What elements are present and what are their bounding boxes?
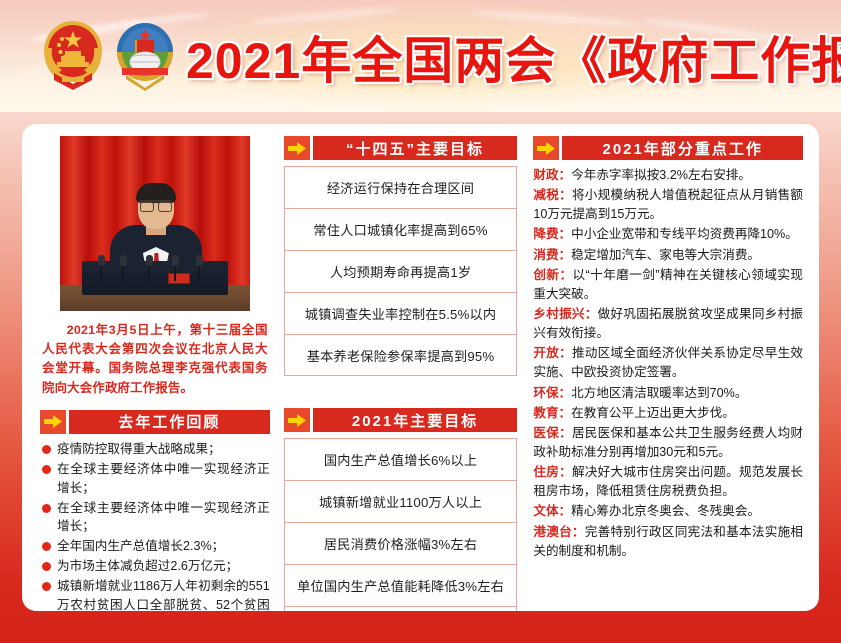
section-header-review: 去年工作回顾 [40, 410, 270, 434]
keywork-label: 开放 [533, 346, 559, 360]
list-item: 疫情防控取得重大战略成果； [40, 440, 270, 459]
figure-glasses [140, 200, 172, 208]
keywork-label: 乡村振兴 [533, 307, 584, 321]
goal-box: 城镇调查失业率控制在5.5%以内 [284, 292, 518, 334]
keywork-item: 港澳台：完善特别行政区同宪法和基本法实施相关的制度和机制。 [533, 523, 803, 561]
keywork-label: 环保 [533, 386, 558, 400]
keywork-item: 开放：推动区域全面经济伙伴关系协定尽早生效实施、中欧投资协定签署。 [533, 344, 803, 382]
keywork-item: 住房：解决好大城市住房突出问题。规范发展长租房市场，降低租赁住房税费负担。 [533, 463, 803, 501]
goal-box: 单位国内生产总值能耗降低3%左右 [284, 564, 518, 606]
right-column: 2021年部分重点工作 财政：今年赤字率拟按3.2%左右安排。减税：将小规模纳税… [523, 132, 809, 611]
keywork-text: 将小规模纳税人增值税起征点从月销售额10万元提高到15万元。 [533, 188, 803, 221]
goal-box: 基本养老保险参保率提高到95% [284, 334, 518, 376]
keywork-item: 乡村振兴：做好巩固拓展脱贫攻坚成果同乡村振兴有效衔接。 [533, 305, 803, 343]
keywork-text: 中小企业宽带和专线平均资费再降10%。 [571, 227, 798, 241]
poster-header: 2021年全国两会《政府工作报告》要点 [0, 0, 841, 112]
keywork-label: 住房 [533, 465, 559, 479]
list-item: 为市场主体减负超过2.6万亿元； [40, 557, 270, 576]
list-item-text: 在全球主要经济体中唯一实现经济正增长； [57, 501, 270, 534]
keywork-item: 创新：以“十年磨一剑”精神在关键核心领域实现重大突破。 [533, 266, 803, 304]
plan145-boxes: 经济运行保持在合理区间 常住人口城镇化率提高到65% 人均预期寿命再提高1岁 城… [284, 166, 518, 376]
microphone-icon [196, 255, 203, 281]
keywork-item: 文体：精心筹办北京冬奥会、冬残奥会。 [533, 502, 803, 521]
list-item-text: 在全球主要经济体中唯一实现经济正增长； [57, 462, 270, 495]
keywork-text: 在教育公平上迈出更大步伐。 [571, 406, 735, 420]
poster-frame: 2021年3月5日上午，第十三届全国人民代表大会第四次会议在北京人民大会堂开幕。… [0, 112, 841, 643]
columns-container: 2021年3月5日上午，第十三届全国人民代表大会第四次会议在北京人民大会堂开幕。… [22, 124, 819, 611]
goal-box: 居民消费价格涨幅3%左右 [284, 522, 518, 564]
left-column: 2021年3月5日上午，第十三届全国人民代表大会第四次会议在北京人民大会堂开幕。… [32, 132, 278, 611]
section-title-plan145: “十四五”主要目标 [313, 136, 518, 160]
arrow-icon [40, 410, 66, 434]
keywork-label: 消费 [533, 248, 558, 262]
keywork-item: 教育：在教育公平上迈出更大步伐。 [533, 404, 803, 423]
section-header-goals2021: 2021年主要目标 [284, 408, 518, 432]
content-panel: 2021年3月5日上午，第十三届全国人民代表大会第四次会议在北京人民大会堂开幕。… [22, 124, 819, 611]
bullet-dot-icon [42, 445, 51, 454]
goal-box: 经济运行保持在合理区间 [284, 166, 518, 208]
list-item: 全年国内生产总值增长2.3%； [40, 537, 270, 556]
microphone-icon [146, 255, 153, 281]
bullet-dot-icon [42, 465, 51, 474]
list-item-text: 为市场主体减负超过2.6万亿元； [57, 559, 238, 573]
section-title-keywork: 2021年部分重点工作 [562, 136, 803, 160]
keywork-colon: ： [572, 525, 585, 539]
keywork-text: 推动区域全面经济伙伴关系协定尽早生效实施、中欧投资协定签署。 [533, 346, 803, 379]
arrow-icon [284, 408, 310, 432]
list-item-text: 疫情防控取得重大战略成果； [57, 442, 221, 456]
keywork-text: 精心筹办北京冬奥会、冬残奥会。 [571, 504, 760, 518]
microphone-icon [120, 255, 127, 281]
keywork-text: 稳定增加汽车、家电等大宗消费。 [571, 248, 760, 262]
keywork-item: 医保：居民医保和基本公共卫生服务经费人均财政补助标准分别再增加30元和5元。 [533, 424, 803, 462]
keywork-label: 港澳台 [533, 525, 572, 539]
photo-caption: 2021年3月5日上午，第十三届全国人民代表大会第四次会议在北京人民大会堂开幕。… [42, 321, 268, 398]
goals2021-boxes: 国内生产总值增长6%以上 城镇新增就业1100万人以上 居民消费价格涨幅3%左右… [284, 438, 518, 611]
keywork-text: 居民医保和基本公共卫生服务经费人均财政补助标准分别再增加30元和5元。 [533, 426, 803, 459]
bullet-dot-icon [42, 542, 51, 551]
page-title: 2021年全国两会《政府工作报告》要点 [186, 16, 826, 98]
bullet-dot-icon [42, 582, 51, 591]
keywork-label: 文体 [533, 504, 558, 518]
keywork-label: 医保 [533, 426, 559, 440]
arrow-icon [284, 136, 310, 160]
premier-photo [60, 136, 250, 311]
section-title-review: 去年工作回顾 [69, 410, 270, 434]
goal-box: 国内生产总值增长6%以上 [284, 438, 518, 480]
list-item: 在全球主要经济体中唯一实现经济正增长； [40, 499, 270, 537]
keywork-colon: ： [559, 168, 572, 182]
list-item: 城镇新增就业1186万人年初剩余的551万农村贫困人口全部脱贫、52个贫困县全部… [40, 577, 270, 611]
list-item-text: 城镇新增就业1186万人年初剩余的551万农村贫困人口全部脱贫、52个贫困县全部… [57, 579, 270, 611]
list-item: 在全球主要经济体中唯一实现经济正增长； [40, 460, 270, 498]
middle-column: “十四五”主要目标 经济运行保持在合理区间 常住人口城镇化率提高到65% 人均预… [278, 132, 524, 611]
goal-box: 人均预期寿命再提高1岁 [284, 250, 518, 292]
keywork-label: 教育 [533, 406, 558, 420]
keywork-colon: ： [585, 307, 598, 321]
arrow-icon [533, 136, 559, 160]
cppcc-emblem-icon [112, 18, 178, 94]
keywork-item: 消费：稳定增加汽车、家电等大宗消费。 [533, 246, 803, 265]
section-header-plan145: “十四五”主要目标 [284, 136, 518, 160]
keywork-item: 减税：将小规模纳税人增值税起征点从月销售额10万元提高到15万元。 [533, 186, 803, 224]
keywork-label: 降费 [533, 227, 558, 241]
keywork-colon: ： [559, 248, 572, 262]
goal-box: 粮食产量保持在1.3万亿斤以上 [284, 606, 518, 611]
review-list: 疫情防控取得重大战略成果； 在全球主要经济体中唯一实现经济正增长； 在全球主要经… [40, 440, 270, 611]
goal-box: 常住人口城镇化率提高到65% [284, 208, 518, 250]
keywork-item: 环保：北方地区清洁取暖率达到70%。 [533, 384, 803, 403]
section-header-keywork: 2021年部分重点工作 [533, 136, 803, 160]
keywork-item: 财政：今年赤字率拟按3.2%左右安排。 [533, 166, 803, 185]
keywork-colon: ： [559, 406, 572, 420]
keywork-label: 创新 [533, 268, 559, 282]
keywork-list: 财政：今年赤字率拟按3.2%左右安排。减税：将小规模纳税人增值税起征点从月销售额… [533, 166, 803, 561]
keywork-colon: ： [559, 346, 572, 360]
keywork-text: 北方地区清洁取暖率达到70%。 [571, 386, 747, 400]
keywork-colon: ： [559, 268, 572, 282]
keywork-colon: ： [559, 188, 572, 202]
microphone-icon [98, 255, 105, 281]
poster-root: 2021年全国两会《政府工作报告》要点 [0, 0, 841, 643]
keywork-colon: ： [559, 227, 572, 241]
goal-box: 城镇新增就业1100万人以上 [284, 480, 518, 522]
section-title-goals2021: 2021年主要目标 [313, 408, 518, 432]
keywork-colon: ： [559, 504, 572, 518]
keywork-item: 降费：中小企业宽带和专线平均资费再降10%。 [533, 225, 803, 244]
bullet-dot-icon [42, 504, 51, 513]
keywork-label: 减税 [533, 188, 559, 202]
keywork-text: 今年赤字率拟按3.2%左右安排。 [571, 168, 751, 182]
list-item-text: 全年国内生产总值增长2.3%； [57, 539, 224, 553]
bullet-dot-icon [42, 562, 51, 571]
keywork-colon: ： [559, 465, 572, 479]
keywork-colon: ： [559, 426, 572, 440]
keywork-text: 解决好大城市住房突出问题。规范发展长租房市场，降低租赁住房税费负担。 [533, 465, 803, 498]
national-emblem-icon [40, 18, 106, 94]
keywork-colon: ： [559, 386, 572, 400]
microphone-icon [172, 255, 179, 281]
keywork-text: 以“十年磨一剑”精神在关键核心领域实现重大突破。 [533, 268, 803, 301]
keywork-label: 财政 [533, 168, 558, 182]
